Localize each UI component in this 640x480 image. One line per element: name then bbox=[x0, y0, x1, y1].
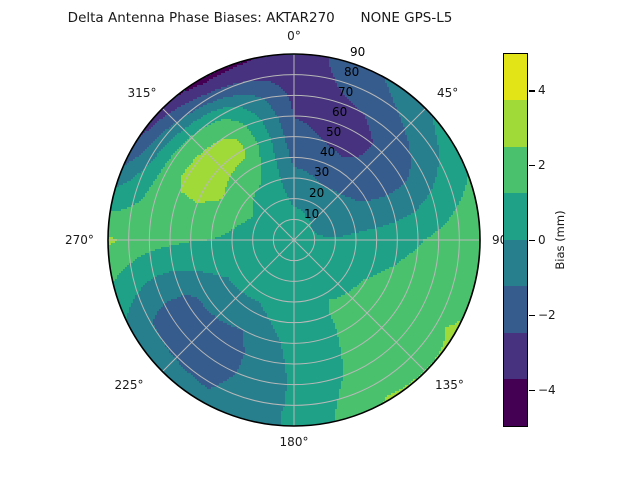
radial-label-90: 90 bbox=[350, 45, 365, 59]
colorbar-tick-label: −2 bbox=[538, 308, 556, 322]
angle-label-225: 225° bbox=[115, 378, 144, 392]
radial-label-70: 70 bbox=[338, 85, 353, 99]
angle-label-135: 135° bbox=[435, 378, 464, 392]
colorbar-segment bbox=[504, 147, 527, 193]
polar-axes: 0° 45° 90 135° 180° 225° 270° 315° 10 20… bbox=[107, 53, 481, 427]
radial-label-30: 30 bbox=[314, 165, 329, 179]
angle-label-180: 180° bbox=[280, 435, 309, 449]
colorbar-tick bbox=[529, 165, 535, 166]
angle-label-45: 45° bbox=[437, 86, 458, 100]
polar-grid bbox=[108, 54, 480, 426]
colorbar-label: Bias (mm) bbox=[553, 210, 567, 269]
colorbar-tick bbox=[529, 390, 535, 391]
angle-label-270: 270° bbox=[65, 233, 94, 247]
colorbar-tick bbox=[529, 315, 535, 316]
colorbar-segment bbox=[504, 100, 527, 146]
radial-label-60: 60 bbox=[332, 105, 347, 119]
colorbar-tick-label: 0 bbox=[538, 233, 546, 247]
radial-label-50: 50 bbox=[326, 125, 341, 139]
colorbar-tick-label: 2 bbox=[538, 158, 546, 172]
radial-label-10: 10 bbox=[304, 207, 319, 221]
colorbar-segment bbox=[504, 193, 527, 239]
colorbar-tick-label: 4 bbox=[538, 83, 546, 97]
colorbar-tick-label: −4 bbox=[538, 383, 556, 397]
colorbar-segment bbox=[504, 379, 527, 425]
radial-label-40: 40 bbox=[320, 145, 335, 159]
colorbar-tick bbox=[529, 90, 535, 91]
colorbar[interactable] bbox=[503, 53, 528, 427]
radial-label-20: 20 bbox=[309, 186, 324, 200]
matplotlib-figure: Delta Antenna Phase Biases: AKTAR270 NON… bbox=[0, 0, 640, 480]
colorbar-segment bbox=[504, 240, 527, 286]
angle-label-315: 315° bbox=[128, 86, 157, 100]
colorbar-segment bbox=[504, 286, 527, 332]
colorbar-segment bbox=[504, 333, 527, 379]
radial-label-80: 80 bbox=[344, 65, 359, 79]
polar-contour-plot bbox=[107, 53, 481, 427]
page-title: Delta Antenna Phase Biases: AKTAR270 NON… bbox=[0, 10, 520, 26]
colorbar-segment bbox=[504, 54, 527, 100]
angle-label-0: 0° bbox=[287, 29, 301, 43]
colorbar-tick bbox=[529, 240, 535, 241]
